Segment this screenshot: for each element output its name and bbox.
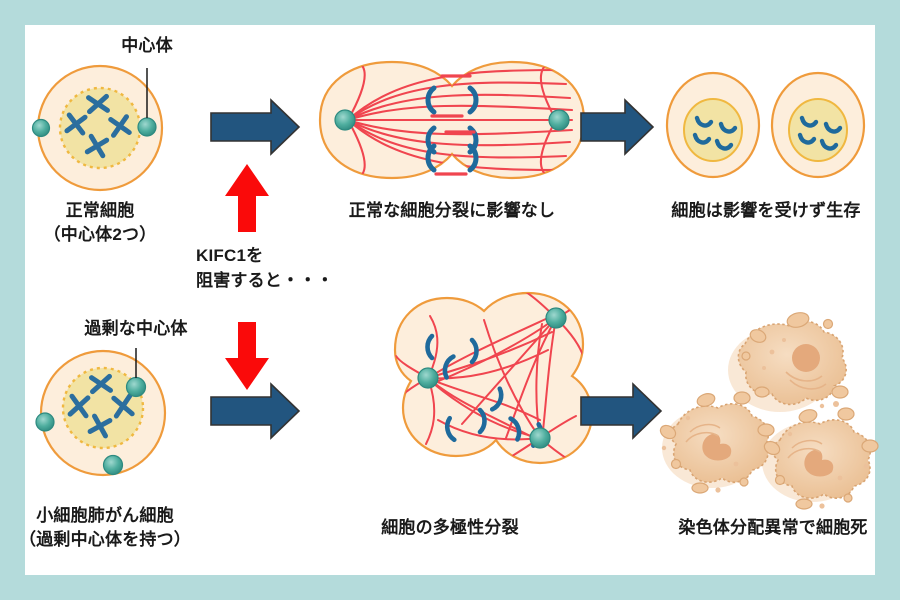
- figure-canvas: [25, 25, 875, 575]
- figure-root: 中心体 正常細胞 （中心体2つ） 正常な細胞分裂に影響なし 細胞は影響を受けず生…: [0, 0, 900, 600]
